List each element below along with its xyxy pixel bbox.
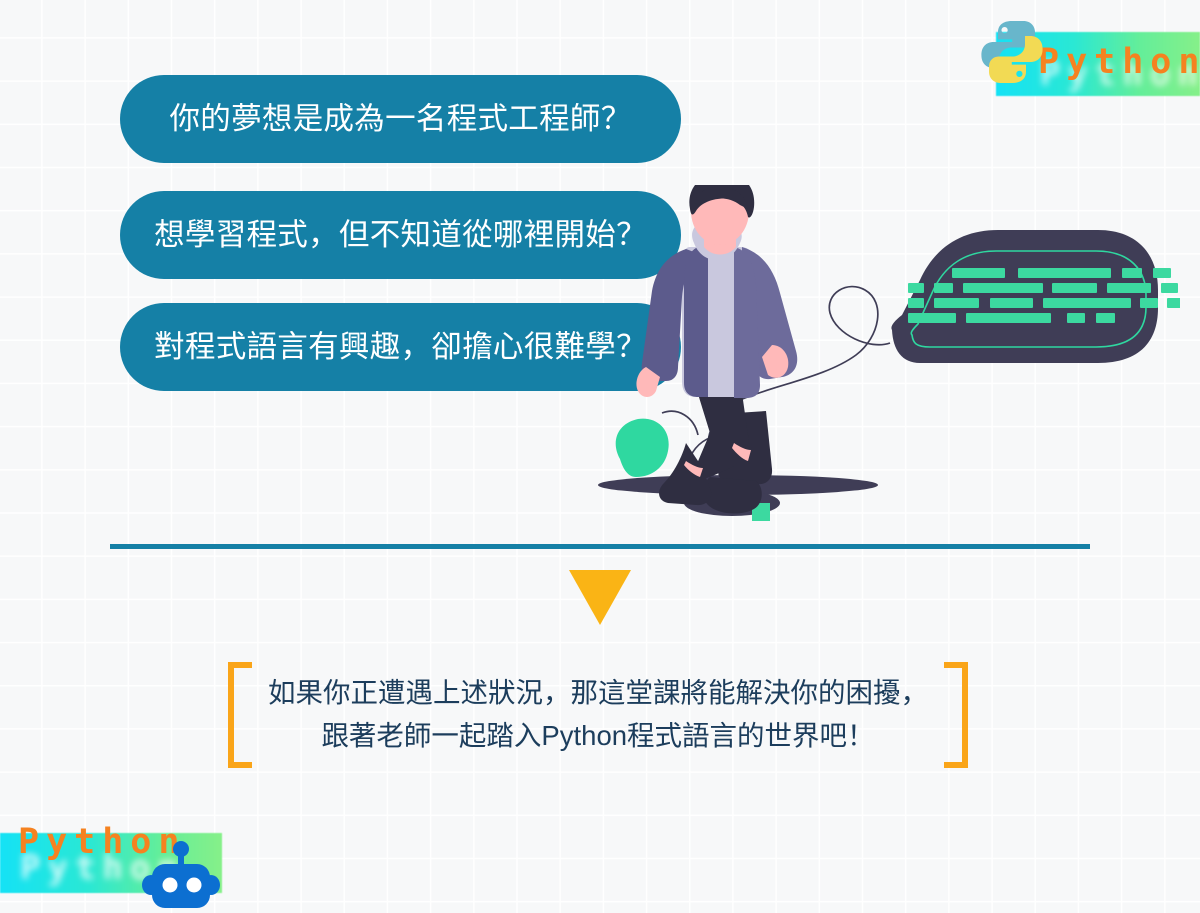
conclusion-line-1: 如果你正遭遇上述狀況，那這堂課將能解決你的困擾，: [268, 679, 928, 708]
down-arrow-icon: [569, 570, 631, 625]
question-pill-1-label: 你的夢想是成為一名程式工程師？: [170, 104, 632, 135]
slide-canvas: 你的夢想是成為一名程式工程師？ 想學習程式，但不知道從哪裡開始？ 對程式語言有興…: [0, 0, 1200, 913]
robot-head-icon: [142, 840, 220, 913]
question-pill-2-label: 想學習程式，但不知道從哪裡開始？: [154, 220, 647, 251]
python-badge-top-right: Python Python: [968, 16, 1200, 96]
conclusion-text: 如果你正遭遇上述狀況，那這堂課將能解決你的困擾， 跟著老師一起踏入Python程…: [252, 662, 944, 768]
conclusion-line-2: 跟著老師一起踏入Python程式語言的世界吧！: [321, 722, 874, 751]
conclusion-block: 如果你正遭遇上述狀況，那這堂課將能解決你的困擾， 跟著老師一起踏入Python程…: [228, 662, 968, 768]
python-badge-bottom-left: Python Python: [0, 810, 230, 913]
bracket-left-icon: [228, 662, 252, 768]
python-wordmark: Python: [1038, 42, 1200, 82]
python-logo-icon: [976, 16, 1048, 88]
bracket-right-icon: [944, 662, 968, 768]
person-with-code-bubble-illustration: [590, 185, 1180, 525]
question-pill-1[interactable]: 你的夢想是成為一名程式工程師？: [120, 75, 681, 163]
section-divider: [110, 544, 1090, 549]
question-pill-3-label: 對程式語言有興趣，卻擔心很難學？: [154, 332, 647, 363]
